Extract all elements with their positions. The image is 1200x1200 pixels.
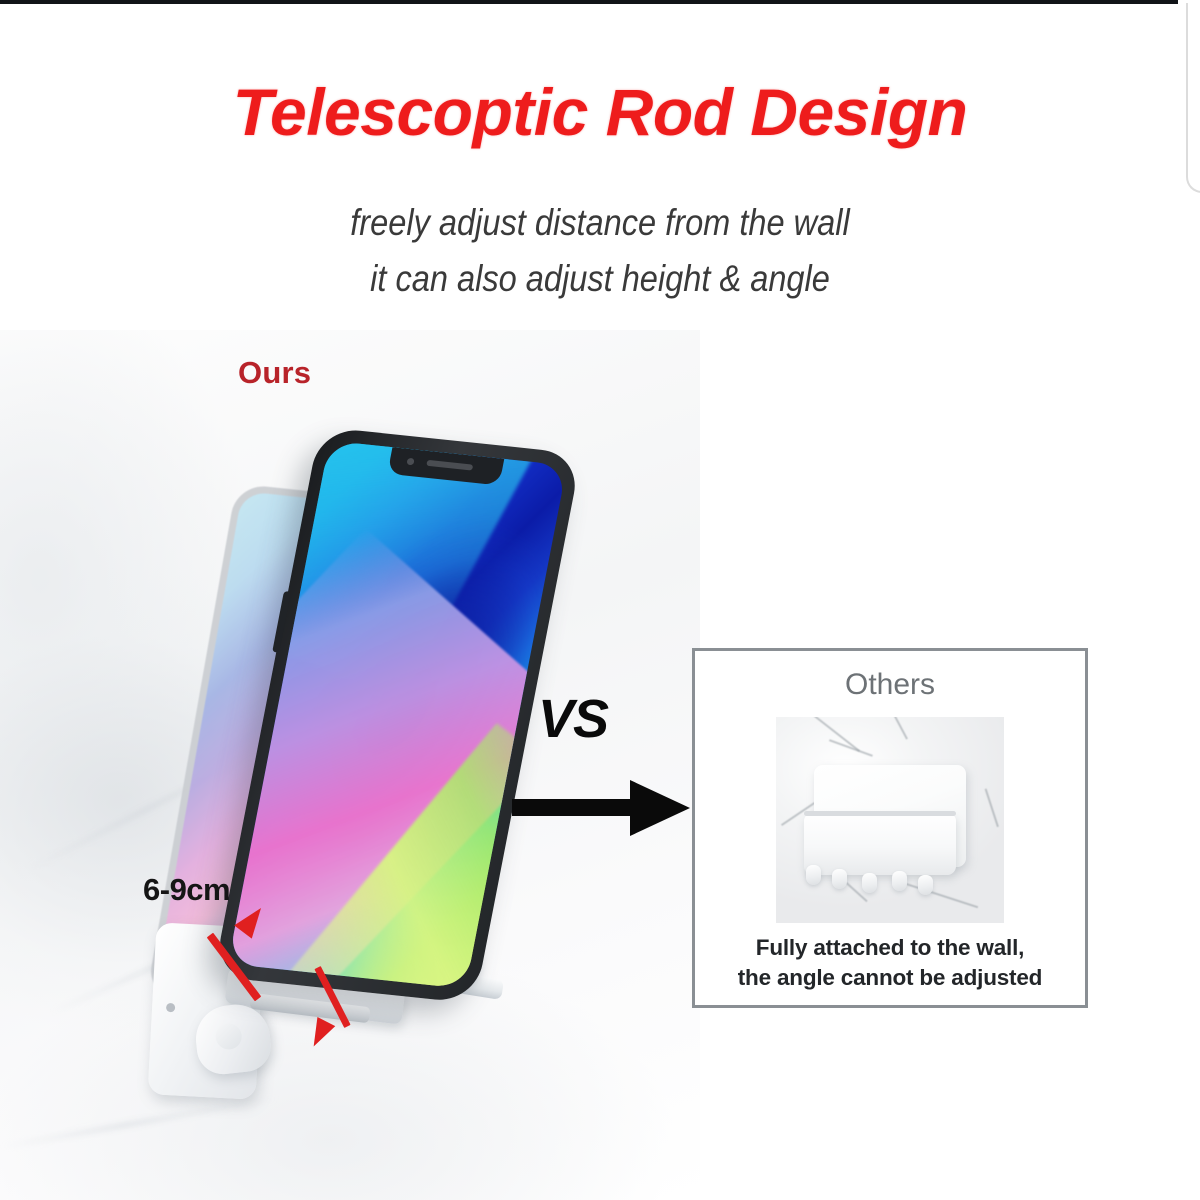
marble-vein bbox=[884, 717, 908, 739]
marble-vein bbox=[985, 788, 999, 827]
others-caption-line-2: the angle cannot be adjusted bbox=[738, 965, 1042, 990]
arrow-head bbox=[234, 901, 270, 938]
page-top-rule bbox=[0, 0, 1178, 4]
mount-screw-icon bbox=[166, 1003, 175, 1012]
arrow-shaft bbox=[512, 799, 640, 816]
marble-vein bbox=[829, 739, 873, 756]
adjust-arrow-down-icon bbox=[293, 958, 373, 1056]
competitor-hook bbox=[862, 873, 877, 893]
arrow-head bbox=[630, 780, 690, 836]
others-title: Others bbox=[695, 668, 1085, 702]
marble-vein bbox=[896, 880, 978, 908]
subtitle-line-1: freely adjust distance from the wall bbox=[72, 202, 1128, 244]
others-panel: Others Fully attached to the wall, the a… bbox=[692, 648, 1088, 1008]
competitor-hook bbox=[892, 871, 907, 891]
others-product-photo bbox=[776, 717, 1004, 923]
subtitle-line-2: it can also adjust height & angle bbox=[72, 258, 1128, 300]
competitor-hook bbox=[918, 875, 933, 895]
comparison-arrow-right-icon bbox=[512, 780, 690, 836]
earpiece-speaker-icon bbox=[426, 460, 473, 471]
ours-label: Ours bbox=[238, 355, 311, 391]
page-title: Telescoptic Rod Design bbox=[0, 74, 1200, 150]
distance-measurement-label: 6-9cm bbox=[143, 872, 230, 908]
vs-label: VS bbox=[538, 688, 608, 750]
others-caption: Fully attached to the wall, the angle ca… bbox=[695, 933, 1085, 992]
front-camera-icon bbox=[406, 458, 414, 466]
arrow-shaft bbox=[207, 933, 262, 1002]
mount-pivot-knob-dot bbox=[214, 1022, 243, 1051]
product-comparison-image: Telescoptic Rod Design freely adjust dis… bbox=[0, 0, 1200, 1200]
wall-texture-streak bbox=[2, 1096, 279, 1150]
competitor-holder-front bbox=[804, 813, 956, 875]
arrow-head bbox=[305, 1017, 336, 1051]
competitor-hook bbox=[832, 869, 847, 889]
competitor-hook bbox=[806, 865, 821, 885]
competitor-holder-lip bbox=[804, 811, 956, 816]
adjust-arrow-up-icon bbox=[213, 905, 293, 1003]
others-caption-line-1: Fully attached to the wall, bbox=[756, 935, 1024, 960]
